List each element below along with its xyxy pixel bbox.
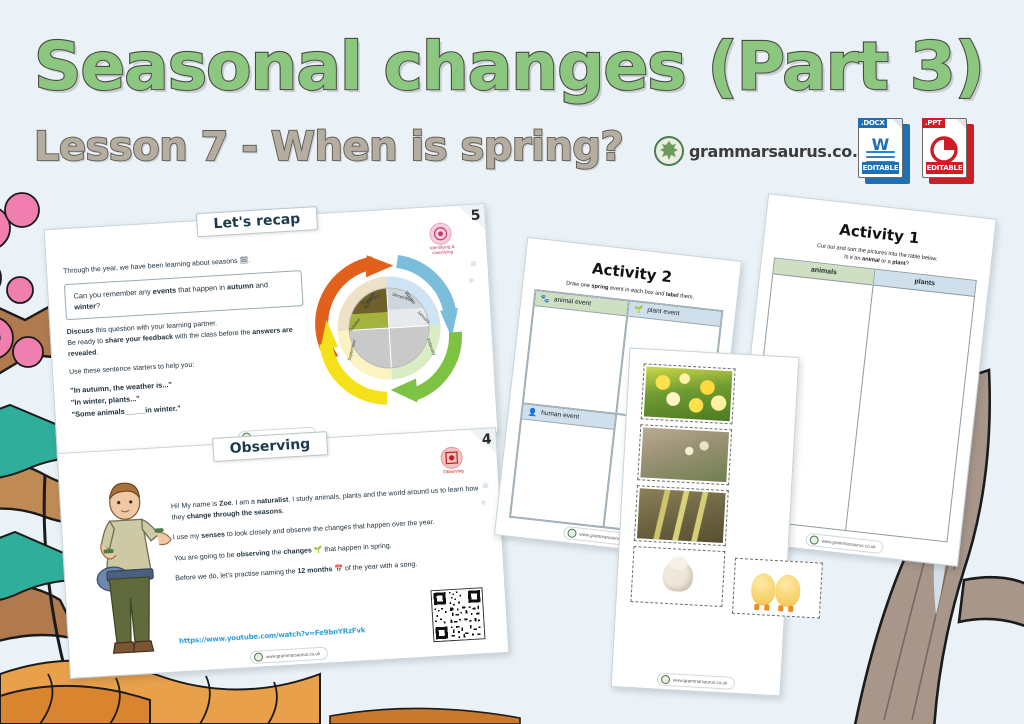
grammarsaurus-mark-icon <box>567 528 577 538</box>
slide-lets-recap[interactable]: 5 Let's recap Identifying & classifying … <box>44 203 499 459</box>
poster-canvas: Seasonal changes (Part 3) Lesson 7 - Whe… <box>0 0 1024 724</box>
picture-card-daffodils[interactable] <box>641 363 736 424</box>
chick-feet-icon <box>774 605 799 613</box>
grammarsaurus-mark-icon <box>254 652 264 662</box>
picture-card-chicks[interactable] <box>732 558 823 619</box>
page-subtitle: Lesson 7 - When is spring? <box>34 124 623 170</box>
slide-number: 5 <box>470 207 481 224</box>
lamb-photo <box>634 549 723 604</box>
chicks-photo <box>735 561 820 615</box>
chick-left <box>750 573 776 606</box>
poster-header: Seasonal changes (Part 3) Lesson 7 - Whe… <box>0 0 1024 200</box>
footer-url: www.grammarsaurus.co.uk <box>805 533 884 555</box>
chick-right <box>775 574 801 607</box>
snowflake-icon: ❄ <box>470 259 478 270</box>
snowflake-icon: ❄ <box>468 277 474 285</box>
brand-text: grammarsaurus.co.uk <box>689 142 879 161</box>
stamp-caption: Observing <box>431 468 475 475</box>
zoe-naturalist-illustration <box>77 476 180 663</box>
cell-header-animal: 🐾 animal event <box>535 291 628 316</box>
cell-label: animal event <box>553 297 591 308</box>
recap-content: Through the year, we have been learning … <box>63 253 310 421</box>
recap-sentence-starters: "In autumn, the weather is..." "In winte… <box>70 371 310 421</box>
slide-observing[interactable]: 4 Observing Observing ❄ ❄ <box>57 427 510 679</box>
grammarsaurus-mark-icon <box>809 535 819 545</box>
recap-question-box: Can you remember any events that happen … <box>64 270 304 320</box>
catkins-photo <box>637 488 726 543</box>
brand-logo: G grammarsaurus.co.uk <box>654 136 879 166</box>
slide-title: Let's recap <box>196 206 318 237</box>
seedling-icon: 🌱 <box>634 305 644 313</box>
ppt-ext-label: .PPT <box>922 118 945 128</box>
docx-ext-label: .DOCX <box>858 118 887 128</box>
cell-label: plant event <box>647 307 680 318</box>
page-corner-fold-icon <box>891 118 903 130</box>
picture-card-blossom[interactable] <box>637 424 732 485</box>
docx-editable-label: EDITABLE <box>862 162 899 174</box>
page-corner-fold-icon <box>955 118 967 130</box>
seasons-wheel-diagram: Autumn Winter September October November… <box>304 243 473 412</box>
cell-header-plant: 🌱 plant event <box>628 302 721 327</box>
grid-cell-human-event[interactable]: 👤 human event <box>510 403 616 527</box>
card-column <box>630 363 735 612</box>
picture-card-lamb[interactable] <box>630 546 725 607</box>
docx-editable-badge: W EDITABLE .DOCX <box>858 118 910 184</box>
observing-stamp: Observing <box>440 446 463 469</box>
footer-url: www.grammarsaurus.co.uk <box>657 673 736 690</box>
slide-number: 4 <box>481 431 492 448</box>
chick-feet-icon <box>750 604 775 612</box>
page-title: Seasonal changes (Part 3) <box>34 28 984 105</box>
grid-cell-animal-event[interactable]: 🐾 animal event <box>523 290 629 414</box>
grammarsaurus-mark-icon <box>661 675 670 684</box>
file-format-badges: W EDITABLE .DOCX EDITABLE .PPT <box>858 118 974 184</box>
youtube-link[interactable]: https://www.youtube.com/watch?v=Fe9bnYRz… <box>179 626 366 645</box>
grammarsaurus-mark-icon: G <box>654 136 684 166</box>
person-icon: 👤 <box>527 408 537 416</box>
recap-discuss: Discuss this question with your learning… <box>66 314 306 361</box>
paw-print-icon: 🐾 <box>540 295 550 303</box>
picture-card-catkins[interactable] <box>634 485 729 546</box>
blossom-photo <box>640 427 729 482</box>
worksheet-cut-out-cards[interactable]: www.grammarsaurus.co.uk <box>611 348 800 697</box>
qr-code[interactable] <box>430 587 485 642</box>
ppt-editable-label: EDITABLE <box>926 162 963 174</box>
cell-label: human event <box>541 410 580 421</box>
daffodils-photo <box>644 366 733 421</box>
observing-content: Hi! My name is Zoe. I am a naturalist. I… <box>171 483 490 593</box>
footer-url: www.grammarsaurus.co.uk <box>250 647 329 665</box>
ppt-editable-badge: EDITABLE .PPT <box>922 118 974 184</box>
lamb-head <box>670 556 688 570</box>
identifying-classifying-stamp: Identifying & classifying <box>429 222 452 245</box>
